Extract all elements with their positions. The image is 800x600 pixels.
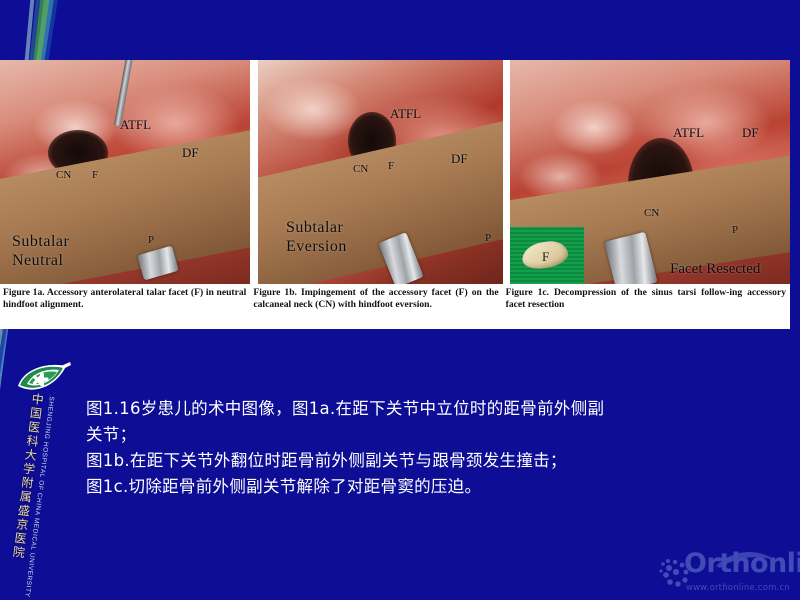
watermark-url: www.orthonline.com.cn	[686, 583, 790, 593]
label-df: DF	[742, 126, 759, 139]
resected-specimen-inset: F	[510, 227, 584, 284]
label-atfl: ATFL	[390, 107, 421, 120]
hospital-emblem-icon	[14, 360, 72, 402]
label-p: P	[148, 235, 154, 246]
label-f: F	[388, 161, 394, 172]
label-p: P	[732, 225, 738, 236]
hospital-name-en: SHENGJING HOSPITAL OF CHINA MEDICAL UNIV…	[23, 396, 55, 598]
figure-captions: Figure 1a. Accessory anterolateral talar…	[0, 284, 790, 329]
hospital-name-cn: 中国医科大学附属盛京医院	[10, 392, 47, 561]
caption-1a: Figure 1a. Accessory anterolateral talar…	[0, 284, 250, 329]
figure-gutter	[250, 60, 258, 284]
slide-body-text: 图1.16岁患儿的术中图像，图1a.在距下关节中立位时的距骨前外侧副 关节； 图…	[86, 396, 736, 500]
label-p: P	[485, 233, 491, 244]
label-df: DF	[182, 146, 199, 159]
caption-1b: Figure 1b. Impingement of the accessory …	[250, 284, 502, 329]
label-atfl: ATFL	[673, 126, 704, 139]
state-label-1a: Subtalar Neutral	[12, 232, 69, 270]
figure-1c-image: F ATFL DF CN P Facet Resected	[510, 60, 790, 284]
figure-gutter	[503, 60, 510, 284]
state-label-1c: Facet Resected	[670, 262, 760, 277]
label-cn: CN	[644, 208, 659, 219]
watermark-wordmark: Orthonline	[684, 550, 800, 577]
figure-panel: ATFL DF CN F P Subtalar Neutral ATFL DF …	[0, 60, 790, 329]
label-specimen-f: F	[542, 250, 549, 263]
figure-1a-image: ATFL DF CN F P Subtalar Neutral	[0, 60, 250, 284]
label-cn: CN	[56, 170, 71, 181]
label-cn: CN	[353, 164, 368, 175]
orthonline-watermark: Orthonline www.orthonline.com.cn	[656, 542, 796, 594]
figure-image-row: ATFL DF CN F P Subtalar Neutral ATFL DF …	[0, 60, 790, 284]
label-atfl: ATFL	[120, 118, 151, 131]
label-f: F	[92, 170, 98, 181]
caption-1c: Figure 1c. Decompression of the sinus ta…	[503, 284, 790, 329]
label-df: DF	[451, 152, 468, 165]
figure-1b-image: ATFL DF CN F P Subtalar Eversion	[258, 60, 503, 284]
state-label-1b: Subtalar Eversion	[286, 218, 347, 256]
presentation-slide: 中国医科大学附属盛京医院 SHENGJING HOSPITAL OF CHINA…	[0, 0, 800, 600]
